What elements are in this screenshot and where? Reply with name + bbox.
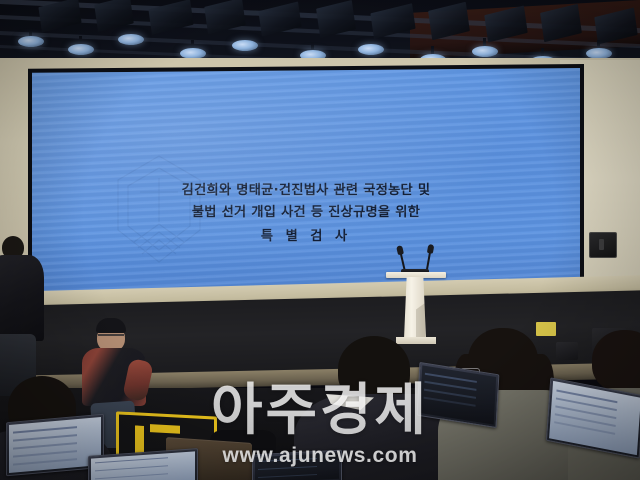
screen-line-3: 특 별 검 사 xyxy=(32,226,580,248)
stage-light xyxy=(472,46,498,57)
screen-message: 김건희와 명태균·건진법사 관련 국정농단 및 불법 선거 개입 사건 등 진상… xyxy=(32,180,580,248)
ceiling-panel xyxy=(94,0,134,32)
head xyxy=(592,330,640,392)
wall-outlet-panel xyxy=(589,232,617,258)
yellow-equipment-marker xyxy=(536,322,556,336)
laptop-screen xyxy=(420,365,496,424)
podium-column xyxy=(404,277,426,339)
screen-line-1: 김건희와 명태균·건진법사 관련 국정농단 및 xyxy=(32,180,580,202)
laptop-screen xyxy=(255,453,339,480)
laptop-screen xyxy=(91,451,195,480)
equipment-box xyxy=(556,342,578,360)
ceiling-panel xyxy=(38,0,81,33)
laptop-screen xyxy=(549,381,640,455)
glasses xyxy=(98,334,124,341)
stage-light xyxy=(118,34,144,45)
stage-light xyxy=(232,40,258,51)
stage-light xyxy=(358,44,384,55)
podium-base xyxy=(396,337,436,344)
led-screen: 김건희와 명태균·건진법사 관련 국정농단 및 불법 선거 개입 사건 등 진상… xyxy=(32,68,580,297)
torso xyxy=(0,255,44,341)
podium xyxy=(395,272,437,346)
cap xyxy=(96,318,126,333)
stage-light xyxy=(68,44,94,55)
press-conference-photo: 김건희와 명태균·건진법사 관련 국정농단 및 불법 선거 개입 사건 등 진상… xyxy=(0,0,640,480)
screen-line-2: 불법 선거 개입 사건 등 진상규명을 위한 xyxy=(32,202,580,224)
stage-light xyxy=(18,36,44,47)
laptop-lid xyxy=(252,450,342,480)
head xyxy=(338,336,410,402)
